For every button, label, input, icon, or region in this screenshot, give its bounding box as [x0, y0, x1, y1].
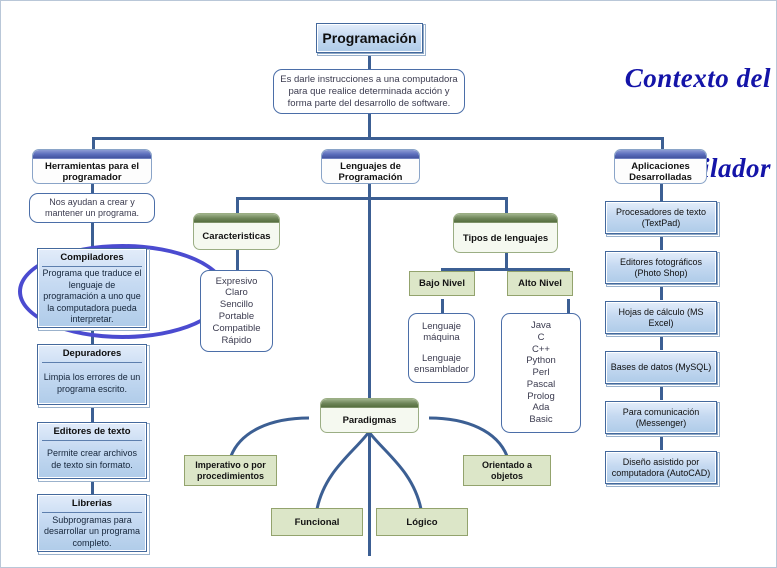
branch-header-applications-label: Aplicaciones Desarrolladas: [615, 159, 706, 184]
tool-card-compiladores-title: Compiladores: [42, 249, 142, 267]
list-alto-nivel: Java C C++ Python Perl Pascal Prolog Ada…: [501, 313, 581, 433]
connector-item2-to-item3: [660, 284, 663, 300]
page-title-line-1: Contexto del: [471, 63, 771, 93]
connector-item5-to-item6: [660, 434, 663, 450]
root-node-label: Programación: [317, 24, 422, 52]
connector-definition-to-bus: [368, 114, 371, 139]
connector-item4-to-item5: [660, 384, 663, 400]
card-band: [33, 150, 151, 159]
node-paradigm-orientado-objetos-label: Orientado a objetos: [464, 456, 550, 485]
node-paradigmas-label: Paradigmas: [321, 408, 418, 433]
node-paradigmas[interactable]: Paradigmas: [320, 398, 419, 433]
tool-card-depuradores[interactable]: Depuradores Limpia los errores de un pro…: [37, 344, 147, 405]
list-item: C++: [532, 344, 550, 356]
node-caracteristicas[interactable]: Caracteristicas: [193, 213, 280, 250]
application-item-bases-de-datos[interactable]: Bases de datos (MySQL): [605, 351, 717, 384]
list-alto-nivel-items: Java C C++ Python Perl Pascal Prolog Ada…: [502, 314, 580, 432]
application-item-diseno-asistido-label: Diseño asistido por computadora (AutoCAD…: [606, 452, 716, 483]
list-item: Expresivo: [216, 276, 258, 288]
tool-card-compiladores[interactable]: Compiladores Programa que traduce el len…: [37, 248, 147, 328]
node-paradigm-orientado-objetos[interactable]: Orientado a objetos: [463, 455, 551, 486]
list-item: Claro: [225, 287, 248, 299]
application-item-bases-de-datos-label: Bases de datos (MySQL): [606, 352, 716, 383]
branch-header-languages-label: Lenguajes de Programación: [322, 159, 419, 184]
tool-card-librerias-title: Librerias: [42, 495, 142, 513]
tool-card-librerias[interactable]: Librerias Subprogramas para desarrollar …: [37, 494, 147, 552]
node-paradigm-funcional-label: Funcional: [272, 509, 362, 535]
list-item: Ada: [533, 402, 550, 414]
application-item-procesadores-de-texto[interactable]: Procesadores de texto (TextPad): [605, 201, 717, 234]
application-item-diseno-asistido[interactable]: Diseño asistido por computadora (AutoCAD…: [605, 451, 717, 484]
card-band: [321, 399, 418, 408]
tool-card-librerias-desc: Subprogramas para desarrollar un program…: [38, 513, 146, 551]
branch-header-languages[interactable]: Lenguajes de Programación: [321, 149, 420, 184]
list-item: Lenguaje máquina: [409, 321, 474, 344]
root-definition-text: Es darle instrucciones a una computadora…: [274, 70, 464, 113]
card-band: [194, 214, 279, 223]
connector-depuradores-to-editores: [91, 405, 94, 423]
list-item: Java: [531, 320, 551, 332]
card-band: [322, 150, 419, 159]
node-paradigm-logico[interactable]: Lógico: [376, 508, 468, 536]
tool-card-depuradores-desc: Limpia los errores de un programa escrit…: [38, 363, 146, 404]
list-bajo-nivel-items: Lenguaje máquina Lenguaje ensamblador: [409, 314, 474, 382]
tool-card-editores-de-texto[interactable]: Editores de texto Permite crear archivos…: [37, 422, 147, 479]
tool-card-editores-de-texto-title: Editores de texto: [42, 423, 142, 441]
node-alto-nivel-label: Alto Nivel: [508, 272, 572, 295]
application-item-editores-fotograficos-label: Editores fotográficos (Photo Shop): [606, 252, 716, 283]
concept-map-canvas: Contexto del Compilador Programación Es …: [0, 0, 777, 568]
node-bajo-nivel[interactable]: Bajo Nivel: [409, 271, 475, 296]
branch-header-tools[interactable]: Herramientas para el programador: [32, 149, 152, 184]
tools-callout: Nos ayudan a crear y mantener un program…: [29, 193, 155, 223]
tools-callout-text: Nos ayudan a crear y mantener un program…: [30, 194, 154, 222]
list-bajo-nivel: Lenguaje máquina Lenguaje ensamblador: [408, 313, 475, 383]
connector-editores-to-librerias: [91, 479, 94, 495]
application-item-editores-fotograficos[interactable]: Editores fotográficos (Photo Shop): [605, 251, 717, 284]
application-item-para-comunicacion-label: Para comunicación (Messenger): [606, 402, 716, 433]
node-paradigm-imperativo[interactable]: Imperativo o por procedimientos: [184, 455, 277, 486]
list-item: Basic: [529, 414, 552, 426]
list-item: Compatible: [212, 323, 260, 335]
list-item: Portable: [219, 311, 254, 323]
node-paradigm-logico-label: Lógico: [377, 509, 467, 535]
root-node-programacion[interactable]: Programación: [316, 23, 423, 53]
list-item: Lenguaje ensamblador: [409, 353, 474, 376]
list-item: Perl: [533, 367, 550, 379]
connector-languages-spine: [368, 184, 371, 556]
node-paradigm-imperativo-label: Imperativo o por procedimientos: [185, 456, 276, 485]
list-item: Python: [526, 355, 556, 367]
application-item-hojas-de-calculo-label: Hojas de cálculo (MS Excel): [606, 302, 716, 333]
branch-header-applications[interactable]: Aplicaciones Desarrolladas: [614, 149, 707, 184]
list-caracteristicas: Expresivo Claro Sencillo Portable Compat…: [200, 270, 273, 352]
list-item: Prolog: [527, 391, 554, 403]
tool-card-editores-de-texto-desc: Permite crear archivos de texto sin form…: [38, 441, 146, 478]
list-item: Pascal: [527, 379, 556, 391]
connector-languages-split: [236, 197, 508, 200]
tool-card-compiladores-desc: Programa que traduce el lenguaje de prog…: [38, 267, 146, 327]
node-bajo-nivel-label: Bajo Nivel: [410, 272, 474, 295]
card-band: [615, 150, 706, 159]
list-caracteristicas-items: Expresivo Claro Sencillo Portable Compat…: [201, 271, 272, 351]
connector-bajo-to-list: [441, 299, 444, 314]
application-item-para-comunicacion[interactable]: Para comunicación (Messenger): [605, 401, 717, 434]
connector-alto-to-list: [567, 299, 570, 314]
connector-item3-to-item4: [660, 334, 663, 350]
application-item-hojas-de-calculo[interactable]: Hojas de cálculo (MS Excel): [605, 301, 717, 334]
node-alto-nivel[interactable]: Alto Nivel: [507, 271, 573, 296]
tool-card-depuradores-title: Depuradores: [42, 345, 142, 363]
list-item: Rápido: [221, 335, 251, 347]
node-tipos-de-lenguajes[interactable]: Tipos de lenguajes: [453, 213, 558, 253]
card-band: [454, 214, 557, 223]
list-item: C: [538, 332, 545, 344]
list-item: Sencillo: [220, 299, 253, 311]
node-tipos-de-lenguajes-label: Tipos de lenguajes: [454, 223, 557, 253]
connector-to-caracteristicas: [236, 197, 239, 213]
root-definition-callout: Es darle instrucciones a una computadora…: [273, 69, 465, 114]
node-caracteristicas-label: Caracteristicas: [194, 223, 279, 250]
application-item-procesadores-de-texto-label: Procesadores de texto (TextPad): [606, 202, 716, 233]
connector-caracteristicas-to-list: [236, 250, 239, 270]
connector-root-to-definition: [368, 53, 371, 69]
branch-header-tools-label: Herramientas para el programador: [33, 159, 151, 184]
node-paradigm-funcional[interactable]: Funcional: [271, 508, 363, 536]
